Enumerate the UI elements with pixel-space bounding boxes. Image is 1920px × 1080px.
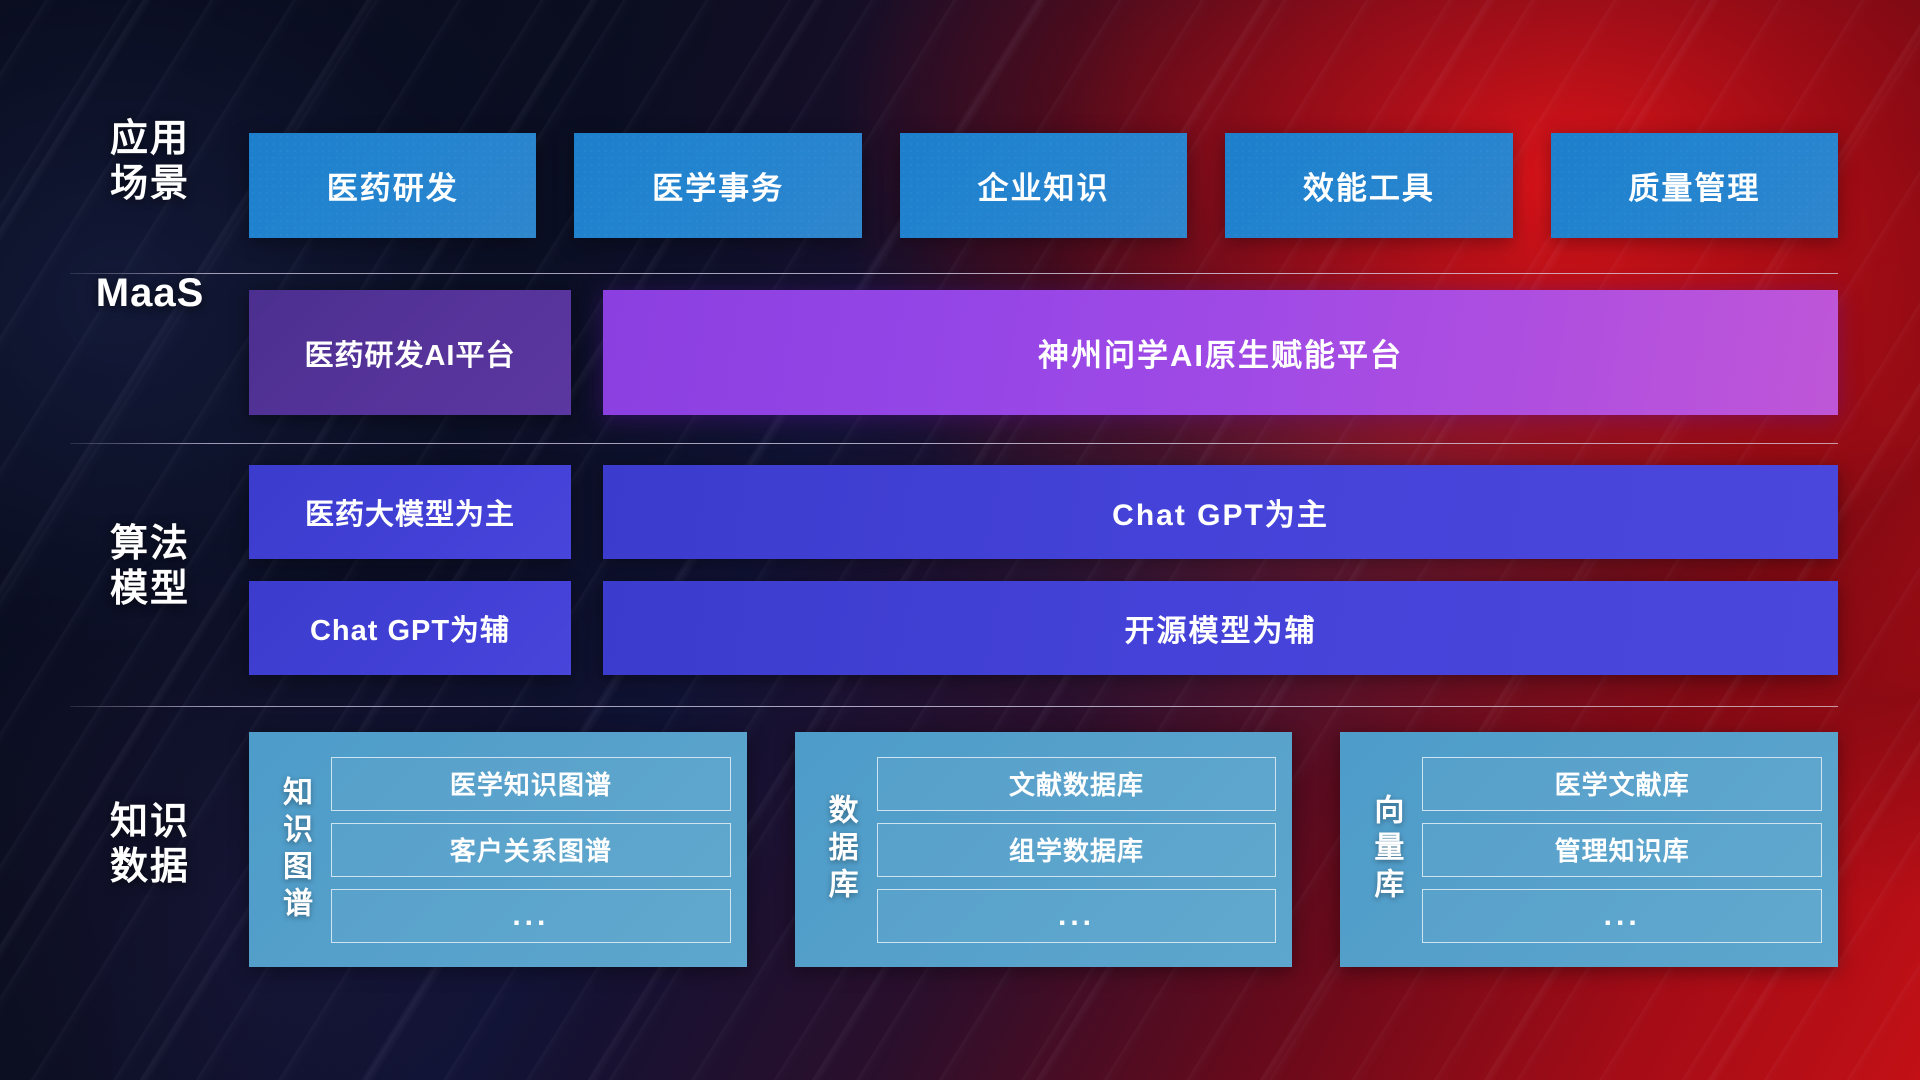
scenario-label-4: 效能工具 — [1303, 163, 1435, 208]
row-label-scenarios: 应用 场景 — [70, 117, 230, 207]
knowledge-panel-database-title: 数据库 — [803, 746, 877, 953]
scenario-box-3[interactable]: 企业知识 — [900, 133, 1187, 238]
algorithm-row: 医药大模型为主 Chat GPT为主 Chat GPT为辅 开源模型为辅 — [249, 465, 1838, 675]
algorithm-label-secondary-left: Chat GPT为辅 — [310, 607, 510, 649]
row-label-algorithm: 算法 模型 — [70, 522, 230, 612]
knowledge-item-database-3[interactable]: ... — [877, 889, 1277, 943]
scenario-label-5: 质量管理 — [1628, 163, 1760, 208]
algorithm-line-secondary: Chat GPT为辅 开源模型为辅 — [249, 581, 1838, 675]
knowledge-panel-graph-items: 医学知识图谱 客户关系图谱 ... — [331, 746, 731, 953]
knowledge-item-vector-1[interactable]: 医学文献库 — [1422, 757, 1822, 811]
algorithm-label-primary-left: 医药大模型为主 — [305, 491, 515, 533]
knowledge-row: 知识图谱 医学知识图谱 客户关系图谱 ... 数据库 文献数据库 组学数据库 .… — [249, 732, 1838, 967]
separator-maas-algorithm — [70, 443, 1838, 444]
scenario-box-4[interactable]: 效能工具 — [1225, 133, 1512, 238]
row-label-maas-text: MaaS — [70, 270, 230, 317]
knowledge-item-database-2[interactable]: 组学数据库 — [877, 823, 1277, 877]
maas-platform-label-right: 神州问学AI原生赋能平台 — [1038, 330, 1403, 375]
knowledge-item-database-1[interactable]: 文献数据库 — [877, 757, 1277, 811]
knowledge-panel-vector[interactable]: 向量库 医学文献库 管理知识库 ... — [1340, 732, 1838, 967]
scenario-label-1: 医药研发 — [327, 163, 459, 208]
knowledge-panel-vector-items: 医学文献库 管理知识库 ... — [1422, 746, 1822, 953]
algorithm-label-primary-right: Chat GPT为主 — [1112, 490, 1329, 534]
row-label-knowledge-line1: 知识 — [70, 800, 230, 845]
row-label-knowledge: 知识 数据 — [70, 800, 230, 890]
knowledge-panel-database-items: 文献数据库 组学数据库 ... — [877, 746, 1277, 953]
algorithm-label-secondary-right: 开源模型为辅 — [1125, 606, 1317, 650]
algorithm-line-primary: 医药大模型为主 Chat GPT为主 — [249, 465, 1838, 559]
knowledge-panel-database[interactable]: 数据库 文献数据库 组学数据库 ... — [795, 732, 1293, 967]
scenario-box-2[interactable]: 医学事务 — [574, 133, 861, 238]
scenario-label-2: 医学事务 — [652, 163, 784, 208]
row-label-algorithm-line2: 模型 — [70, 567, 230, 612]
scenario-row: 医药研发 医学事务 企业知识 效能工具 质量管理 — [249, 133, 1838, 238]
algorithm-box-secondary-right[interactable]: 开源模型为辅 — [603, 581, 1838, 675]
slide-canvas: 应用 场景 医药研发 医学事务 企业知识 效能工具 质量管理 MaaS 医药研发… — [0, 0, 1920, 1080]
knowledge-panel-graph[interactable]: 知识图谱 医学知识图谱 客户关系图谱 ... — [249, 732, 747, 967]
knowledge-panel-vector-title: 向量库 — [1348, 746, 1422, 953]
row-label-knowledge-line2: 数据 — [70, 845, 230, 890]
scenario-box-5[interactable]: 质量管理 — [1551, 133, 1838, 238]
row-label-scenarios-line2: 场景 — [70, 162, 230, 207]
knowledge-panel-graph-title: 知识图谱 — [257, 746, 331, 953]
row-label-maas: MaaS — [70, 270, 230, 317]
knowledge-item-vector-3[interactable]: ... — [1422, 889, 1822, 943]
row-label-scenarios-line1: 应用 — [70, 117, 230, 162]
maas-platform-box-right[interactable]: 神州问学AI原生赋能平台 — [603, 290, 1838, 415]
maas-row: 医药研发AI平台 神州问学AI原生赋能平台 — [249, 290, 1838, 415]
knowledge-item-graph-3[interactable]: ... — [331, 889, 731, 943]
knowledge-item-graph-1[interactable]: 医学知识图谱 — [331, 757, 731, 811]
separator-scenarios-maas — [70, 273, 1838, 274]
algorithm-box-secondary-left[interactable]: Chat GPT为辅 — [249, 581, 571, 675]
row-label-algorithm-line1: 算法 — [70, 522, 230, 567]
scenario-label-3: 企业知识 — [978, 163, 1110, 208]
knowledge-item-vector-2[interactable]: 管理知识库 — [1422, 823, 1822, 877]
maas-platform-box-left[interactable]: 医药研发AI平台 — [249, 290, 571, 415]
scenario-box-1[interactable]: 医药研发 — [249, 133, 536, 238]
algorithm-box-primary-right[interactable]: Chat GPT为主 — [603, 465, 1838, 559]
separator-algorithm-knowledge — [70, 706, 1838, 707]
algorithm-box-primary-left[interactable]: 医药大模型为主 — [249, 465, 571, 559]
knowledge-item-graph-2[interactable]: 客户关系图谱 — [331, 823, 731, 877]
maas-platform-label-left: 医药研发AI平台 — [304, 332, 515, 374]
